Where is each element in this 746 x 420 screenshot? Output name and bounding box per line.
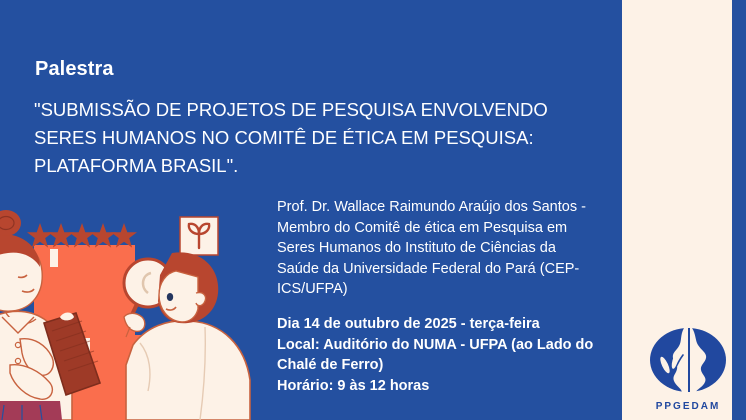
presentation-slide: Palestra "SUBMISSÃO DE PROJETOS DE PESQU… <box>0 0 746 420</box>
headline-line-3: PLATAFORMA BRASIL". <box>34 152 594 180</box>
event-date: Dia 14 de outubro de 2025 - terça-feira <box>277 314 597 335</box>
event-time: Horário: 9 às 12 horas <box>277 376 597 397</box>
headline-line-1: "SUBMISSÃO DE PROJETOS DE PESQUISA ENVOL… <box>34 96 594 124</box>
event-place: Local: Auditório do NUMA - UFPA (ao Lado… <box>277 335 597 376</box>
headline-title: "SUBMISSÃO DE PROJETOS DE PESQUISA ENVOL… <box>34 96 594 180</box>
ppgedam-wordmark: PPGEDAM <box>648 401 728 412</box>
ppgedam-logo-icon <box>648 327 728 400</box>
headline-line-2: SERES HUMANOS NO COMITÊ DE ÉTICA EM PESQ… <box>34 124 594 152</box>
illustration-two-people-research <box>0 205 300 420</box>
five-stars <box>27 223 137 248</box>
blue-edge-band <box>732 0 746 420</box>
speaker-bio: Prof. Dr. Wallace Raimundo Araújo dos Sa… <box>277 197 597 300</box>
event-details: Dia 14 de outubro de 2025 - terça-feira … <box>277 314 597 396</box>
ppgedam-logo: PPGEDAM <box>648 327 728 412</box>
eyebrow-label: Palestra <box>35 58 114 81</box>
